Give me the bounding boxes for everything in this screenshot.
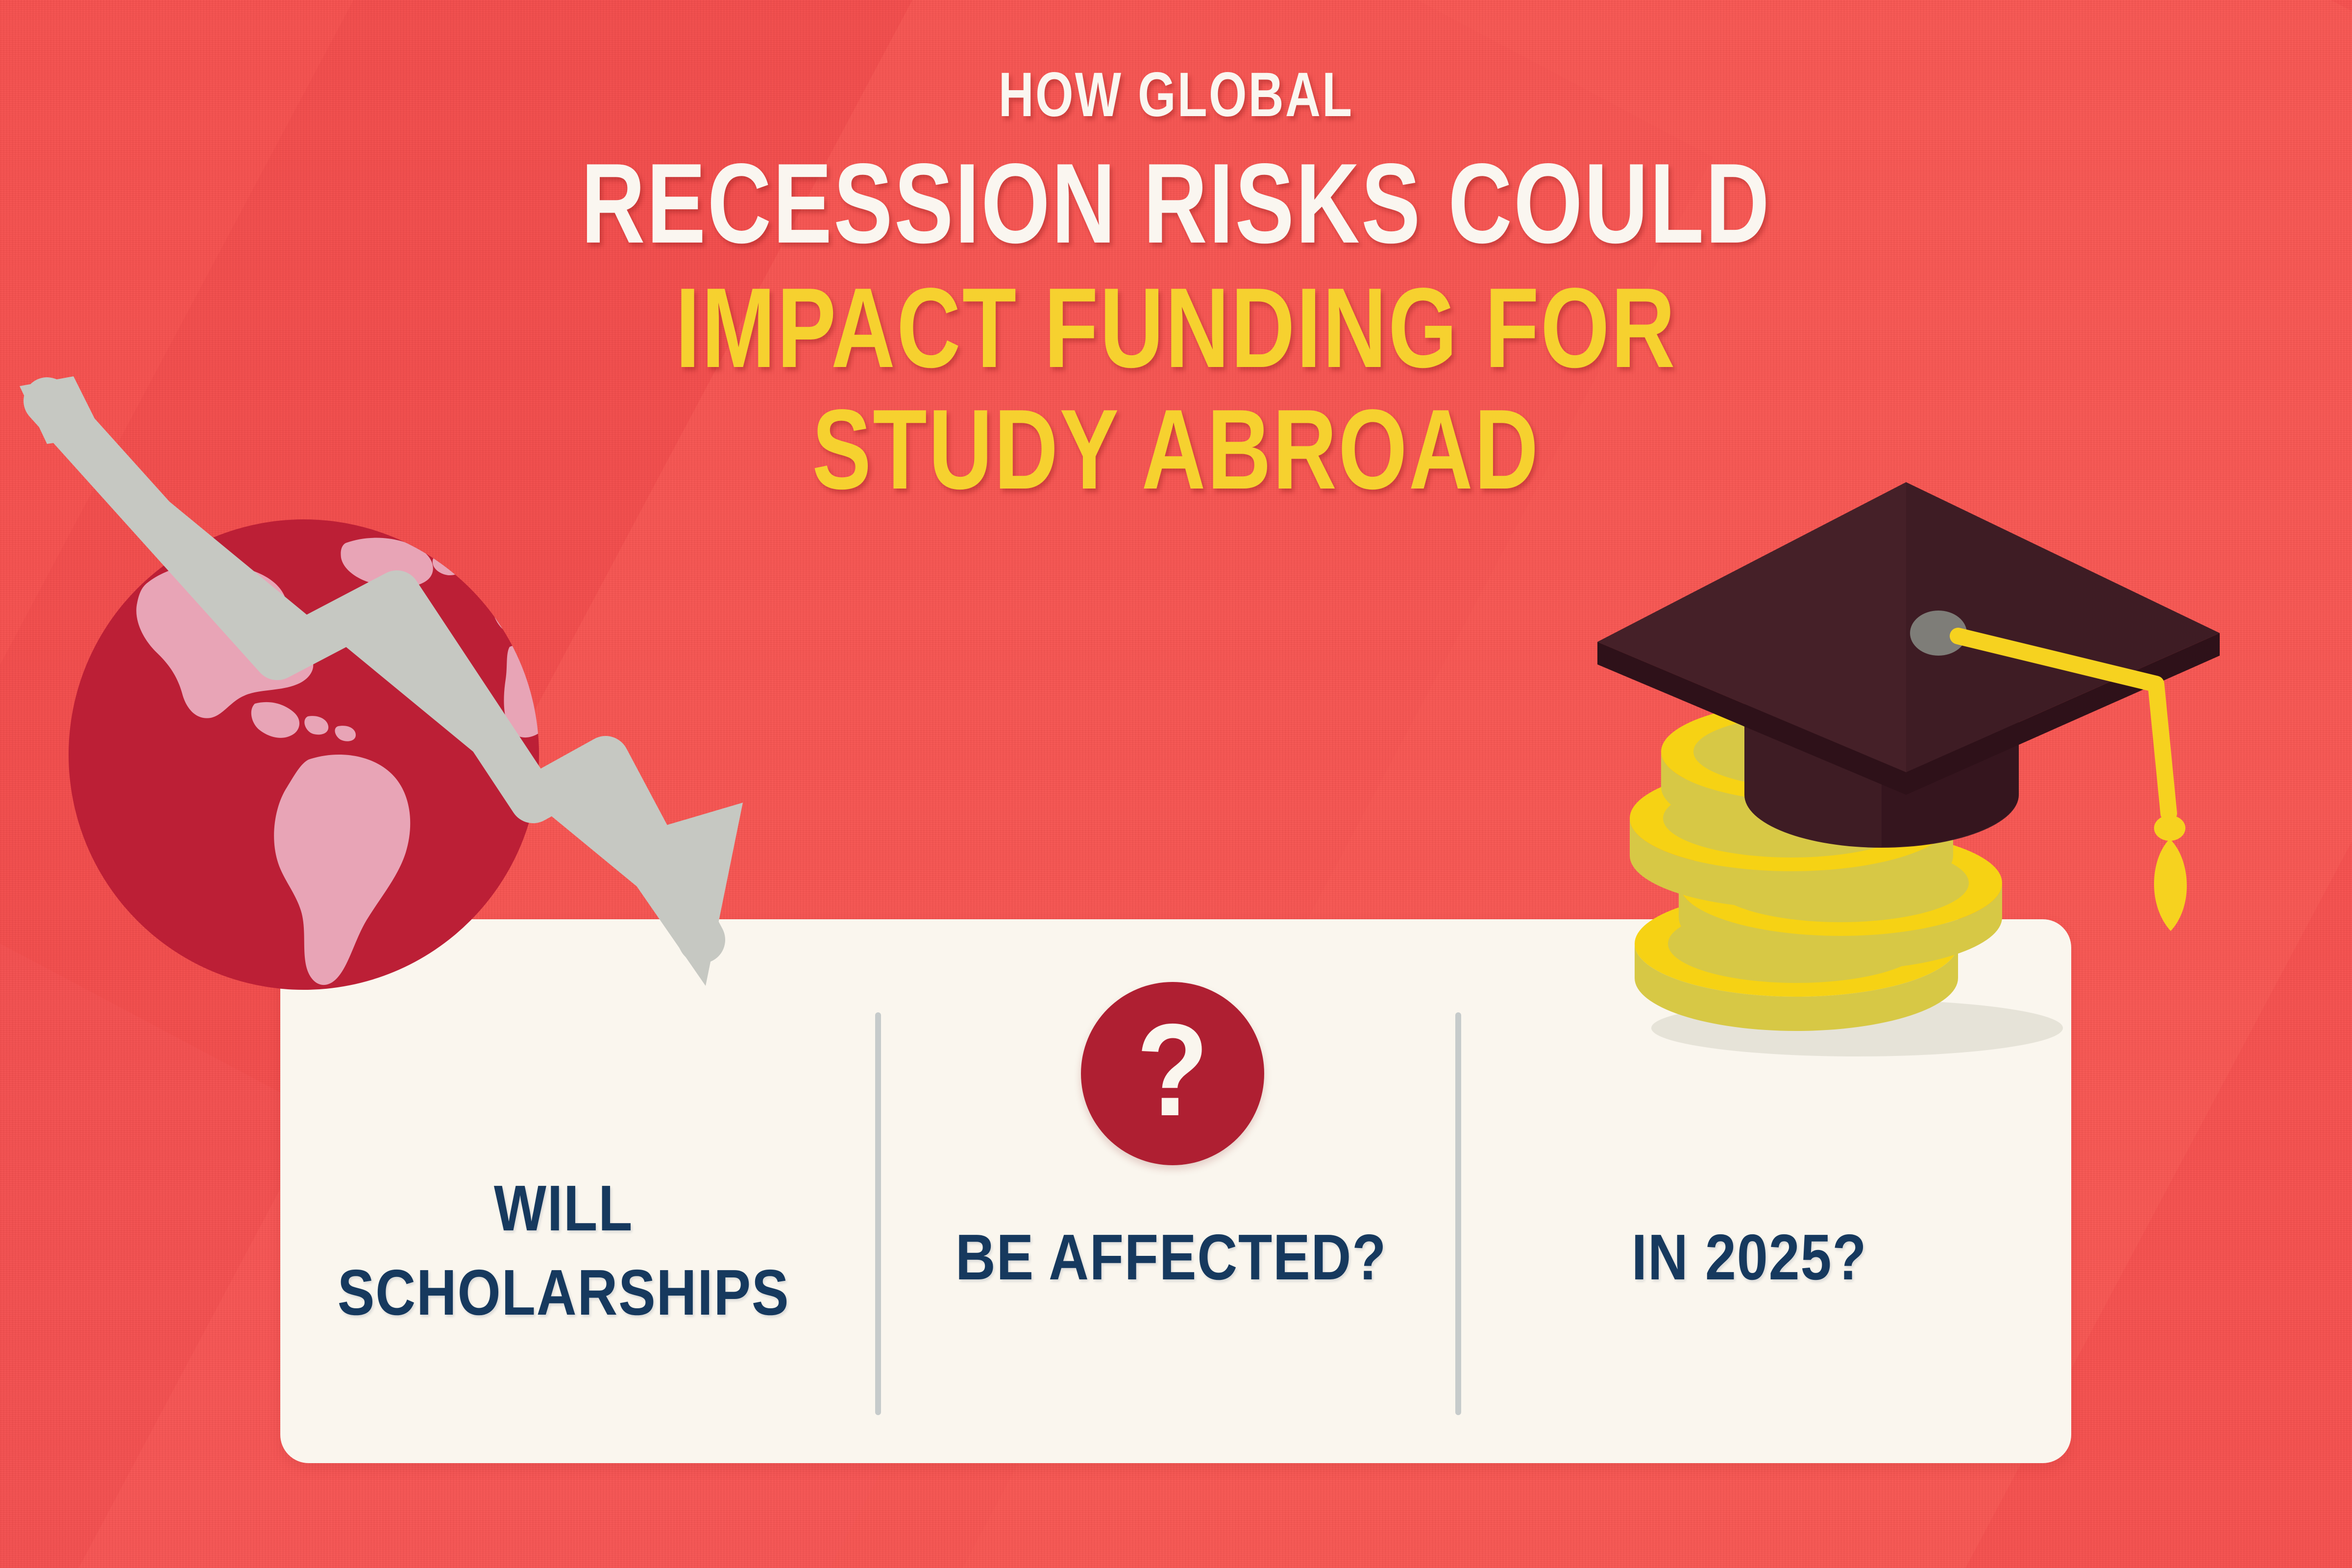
card-column-affected: BE AFFECTED? (897, 1215, 1445, 1299)
column-divider-1 (875, 1012, 881, 1415)
card-column-year: IN 2025? (1475, 1215, 2024, 1299)
headline-line-3: IMPACT FUNDING FOR (259, 271, 2093, 385)
headline-kicker: HOW GLOBAL (259, 64, 2093, 126)
column-divider-2 (1455, 1012, 1461, 1415)
graduation-cap-coins-illustration (1583, 441, 2244, 1078)
column-label-3: IN 2025? (1513, 1215, 1985, 1299)
headline-line-2: RECESSION RISKS COULD (259, 147, 2093, 261)
column-label-1: WILL SCHOLARSHIPS (315, 1166, 812, 1334)
headline-line-4: STUDY ABROAD (259, 393, 2093, 507)
question-mark-glyph: ? (1136, 1004, 1208, 1135)
column-label-2: BE AFFECTED? (935, 1215, 1407, 1299)
headline-block: HOW GLOBAL RECESSION RISKS COULD IMPACT … (0, 64, 2352, 507)
poster-canvas: HOW GLOBAL RECESSION RISKS COULD IMPACT … (0, 0, 2352, 1568)
card-column-scholarships: WILL SCHOLARSHIPS (274, 1166, 853, 1334)
question-mark-icon: ? (1081, 982, 1264, 1165)
